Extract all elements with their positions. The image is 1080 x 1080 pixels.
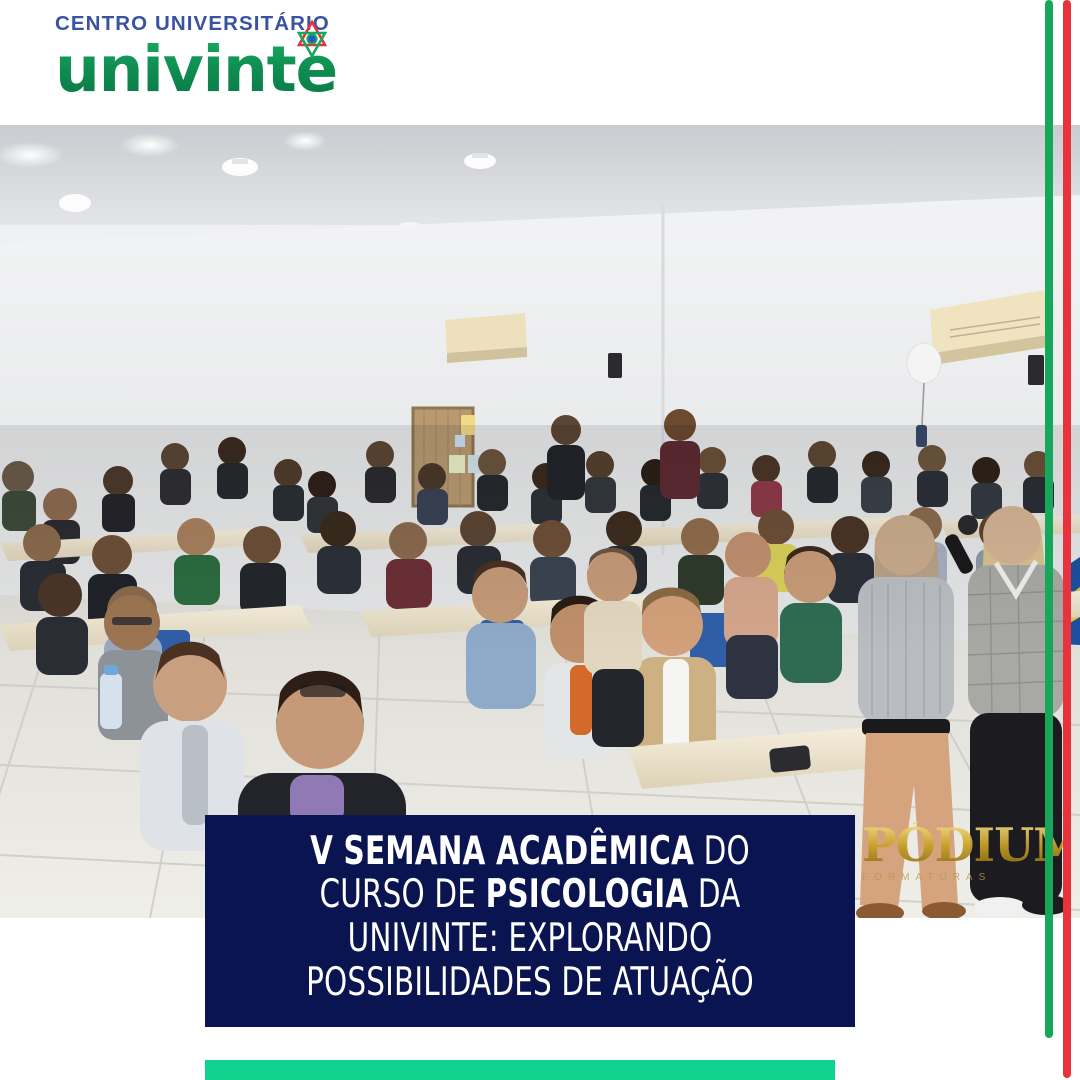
header-band: CENTRO UNIVERSITÁRIO univinte — [0, 0, 1080, 125]
title-line1-bold: V SEMANA ACADÊMICA — [310, 829, 694, 874]
poster-canvas: CENTRO UNIVERSITÁRIO univinte — [0, 0, 1080, 1080]
univinte-logo[interactable]: CENTRO UNIVERSITÁRIO univinte — [55, 14, 355, 106]
event-photo — [0, 125, 1080, 918]
title-banner: V SEMANA ACADÊMICA DO CURSO DE PSICOLOGI… — [205, 815, 855, 1027]
green-stripe — [1045, 0, 1053, 1038]
event-title: V SEMANA ACADÊMICA DO CURSO DE PSICOLOGI… — [281, 830, 780, 1005]
six-pointed-star-icon — [292, 19, 332, 59]
title-line3: POSSIBILIDADES DE ATUAÇÃO — [306, 960, 754, 1005]
red-stripe — [1063, 0, 1071, 1078]
title-line2-bold: PSICOLOGIA — [486, 872, 689, 917]
bottom-accent-bar — [205, 1060, 835, 1080]
